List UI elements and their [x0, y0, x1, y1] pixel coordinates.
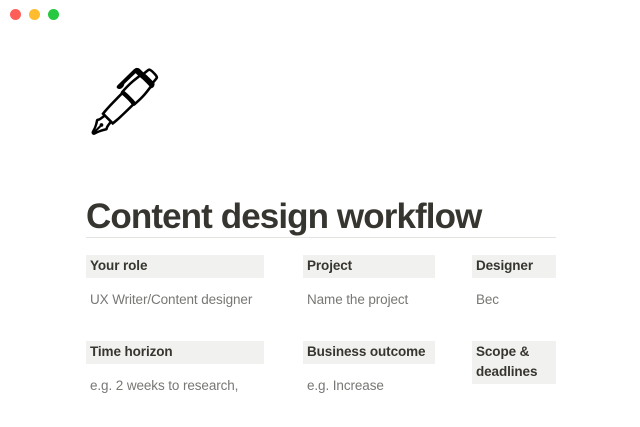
- property-cell-time-horizon[interactable]: Time horizon e.g. 2 weeks to research,: [86, 341, 264, 395]
- property-value[interactable]: UX Writer/Content designer: [86, 290, 264, 309]
- property-label[interactable]: Time horizon: [86, 341, 264, 364]
- property-value[interactable]: Name the project: [303, 290, 435, 309]
- property-label[interactable]: Project: [303, 255, 435, 278]
- fountain-pen-emoji[interactable]: 🖋: [83, 60, 167, 144]
- property-cell-scope-deadlines[interactable]: Scope & deadlines: [472, 341, 556, 396]
- property-cell-designer[interactable]: Designer Bec: [472, 255, 556, 309]
- close-window-button[interactable]: [10, 9, 21, 20]
- property-row: Your role UX Writer/Content designer Pro…: [0, 255, 640, 341]
- property-cell-your-role[interactable]: Your role UX Writer/Content designer: [86, 255, 264, 309]
- window-titlebar: [0, 0, 640, 30]
- traffic-light-group: [10, 9, 59, 20]
- property-label[interactable]: Designer: [472, 255, 556, 278]
- property-cell-project[interactable]: Project Name the project: [303, 255, 435, 309]
- maximize-window-button[interactable]: [48, 9, 59, 20]
- property-value[interactable]: Bec: [472, 290, 556, 309]
- minimize-window-button[interactable]: [29, 9, 40, 20]
- property-label[interactable]: Your role: [86, 255, 264, 278]
- property-value[interactable]: e.g. 2 weeks to research,: [86, 376, 264, 395]
- page-title[interactable]: Content design workflow: [86, 196, 566, 238]
- property-label[interactable]: Scope & deadlines: [472, 341, 556, 384]
- title-divider: [86, 237, 556, 238]
- property-cell-business-outcome[interactable]: Business outcome e.g. Increase: [303, 341, 435, 395]
- document-canvas: 🖋 Content design workflow Your role UX W…: [0, 30, 640, 400]
- property-grid: Your role UX Writer/Content designer Pro…: [0, 255, 640, 427]
- property-value[interactable]: e.g. Increase: [303, 376, 435, 395]
- property-row: Time horizon e.g. 2 weeks to research, B…: [0, 341, 640, 427]
- property-label[interactable]: Business outcome: [303, 341, 435, 364]
